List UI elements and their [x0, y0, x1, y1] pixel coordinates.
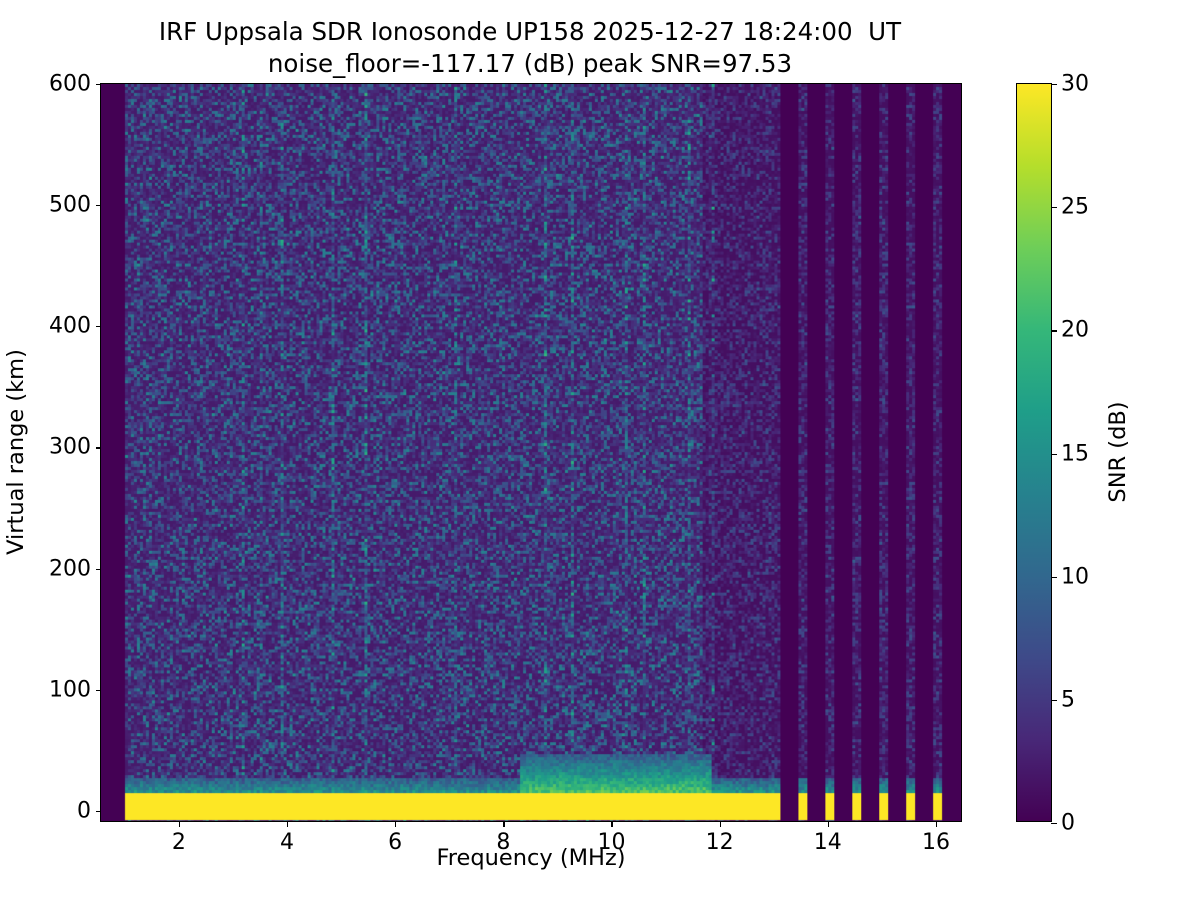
colorbar-label: SNR (dB): [1105, 401, 1131, 502]
x-tick-label: 6: [388, 830, 402, 855]
title-line-2: noise_floor=-117.17 (dB) peak SNR=97.53: [0, 48, 1060, 80]
ionogram-heatmap: [101, 84, 961, 821]
x-axis-label: Frequency (MHz): [436, 845, 625, 871]
x-tick-label: 4: [280, 830, 294, 855]
colorbar-tick-mark: [1051, 207, 1057, 208]
colorbar-tick-mark: [1051, 84, 1057, 85]
y-axis-label: Virtual range (km): [3, 349, 29, 555]
colorbar-gradient: [1017, 84, 1051, 821]
x-tick-mark: [287, 821, 288, 827]
x-tick-mark: [828, 821, 829, 827]
y-tick-label: 300: [49, 435, 91, 460]
y-tick-label: 0: [77, 798, 91, 823]
x-tick-mark: [503, 821, 504, 827]
x-tick-mark: [179, 821, 180, 827]
y-tick-mark: [96, 811, 102, 812]
colorbar-tick-mark: [1051, 577, 1057, 578]
x-tick-mark: [936, 821, 937, 827]
figure-title: IRF Uppsala SDR Ionosonde UP158 2025-12-…: [0, 16, 1060, 80]
colorbar-tick-mark: [1051, 330, 1057, 331]
colorbar: 051015202530: [1016, 83, 1052, 822]
ionogram-figure: IRF Uppsala SDR Ionosonde UP158 2025-12-…: [0, 0, 1200, 900]
y-tick-label: 400: [49, 314, 91, 339]
colorbar-tick-mark: [1051, 823, 1057, 824]
y-tick-mark: [96, 205, 102, 206]
colorbar-tick-label: 0: [1061, 811, 1075, 836]
ionogram-plot-area: 0100200300400500600246810121416: [100, 83, 962, 822]
title-line-1: IRF Uppsala SDR Ionosonde UP158 2025-12-…: [0, 16, 1060, 48]
y-tick-mark: [96, 690, 102, 691]
colorbar-tick-mark: [1051, 454, 1057, 455]
colorbar-tick-label: 20: [1061, 318, 1089, 343]
colorbar-tick-label: 15: [1061, 441, 1089, 466]
y-tick-label: 200: [49, 556, 91, 581]
x-tick-label: 2: [172, 830, 186, 855]
x-tick-mark: [611, 821, 612, 827]
y-tick-label: 600: [49, 72, 91, 97]
colorbar-tick-mark: [1051, 700, 1057, 701]
y-tick-label: 100: [49, 677, 91, 702]
y-tick-mark: [96, 447, 102, 448]
colorbar-tick-label: 25: [1061, 195, 1089, 220]
colorbar-tick-label: 30: [1061, 72, 1089, 97]
x-tick-mark: [720, 821, 721, 827]
colorbar-tick-label: 10: [1061, 564, 1089, 589]
x-tick-label: 12: [706, 830, 734, 855]
colorbar-tick-label: 5: [1061, 687, 1075, 712]
y-tick-mark: [96, 326, 102, 327]
y-tick-label: 500: [49, 193, 91, 218]
y-tick-mark: [96, 569, 102, 570]
y-tick-mark: [96, 84, 102, 85]
x-tick-label: 14: [814, 830, 842, 855]
x-tick-mark: [395, 821, 396, 827]
x-tick-label: 16: [922, 830, 950, 855]
